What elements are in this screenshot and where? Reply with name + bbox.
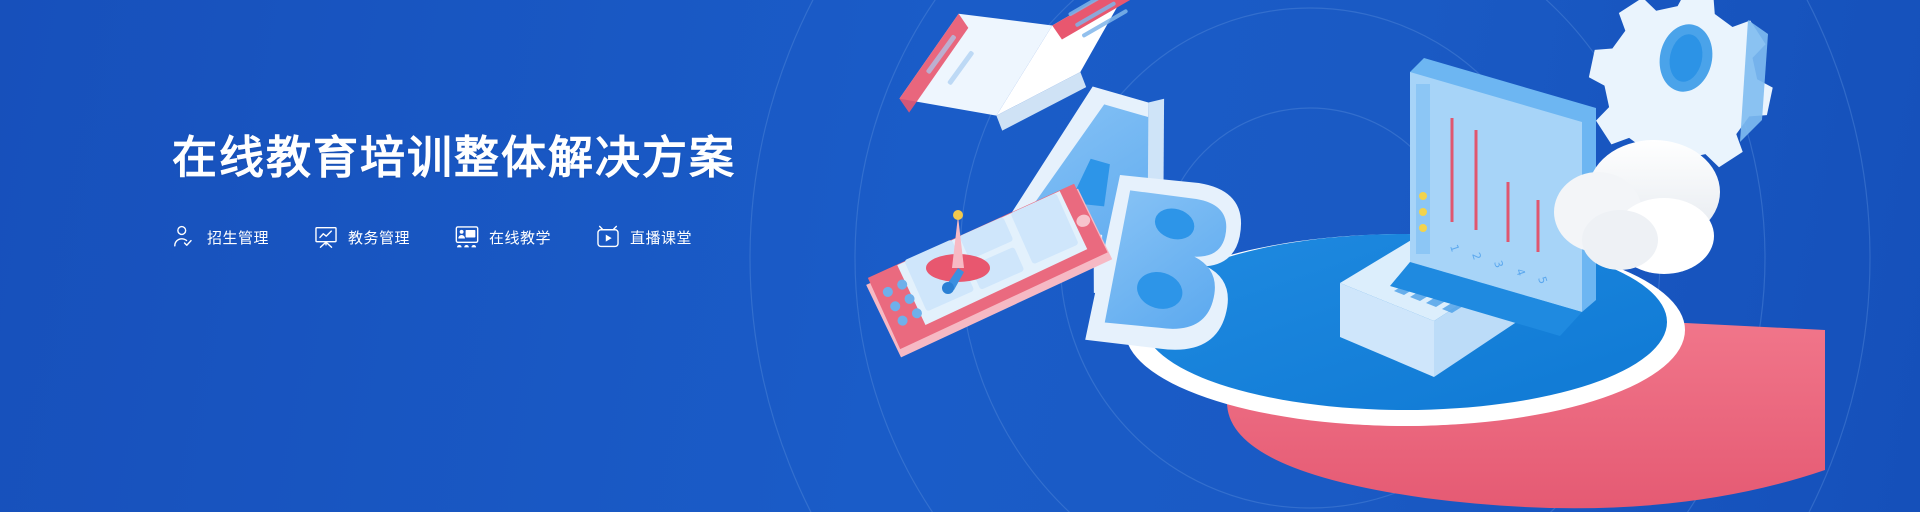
- user-check-icon: [172, 224, 198, 250]
- classroom-teacher-icon: [454, 224, 480, 250]
- feature-label: 直播课堂: [630, 227, 692, 248]
- page-title: 在线教育培训整体解决方案: [172, 130, 932, 186]
- tv-play-icon: [595, 224, 621, 250]
- feature-label: 在线教学: [489, 227, 551, 248]
- banner-content: 在线教育培训整体解决方案 招生管理 教务管理: [172, 130, 932, 250]
- feature-label: 教务管理: [348, 227, 410, 248]
- hero-banner: 1 2 3 4 5: [0, 0, 1920, 512]
- feature-item-online-teaching[interactable]: 在线教学: [454, 224, 551, 250]
- presentation-chart-icon: [313, 224, 339, 250]
- education-illustration: 1 2 3 4 5: [820, 0, 1920, 512]
- feature-item-enrollment[interactable]: 招生管理: [172, 224, 269, 250]
- feature-item-academic-affairs[interactable]: 教务管理: [313, 224, 410, 250]
- feature-list: 招生管理 教务管理: [172, 224, 932, 250]
- feature-label: 招生管理: [207, 227, 269, 248]
- feature-item-live-classroom[interactable]: 直播课堂: [595, 224, 692, 250]
